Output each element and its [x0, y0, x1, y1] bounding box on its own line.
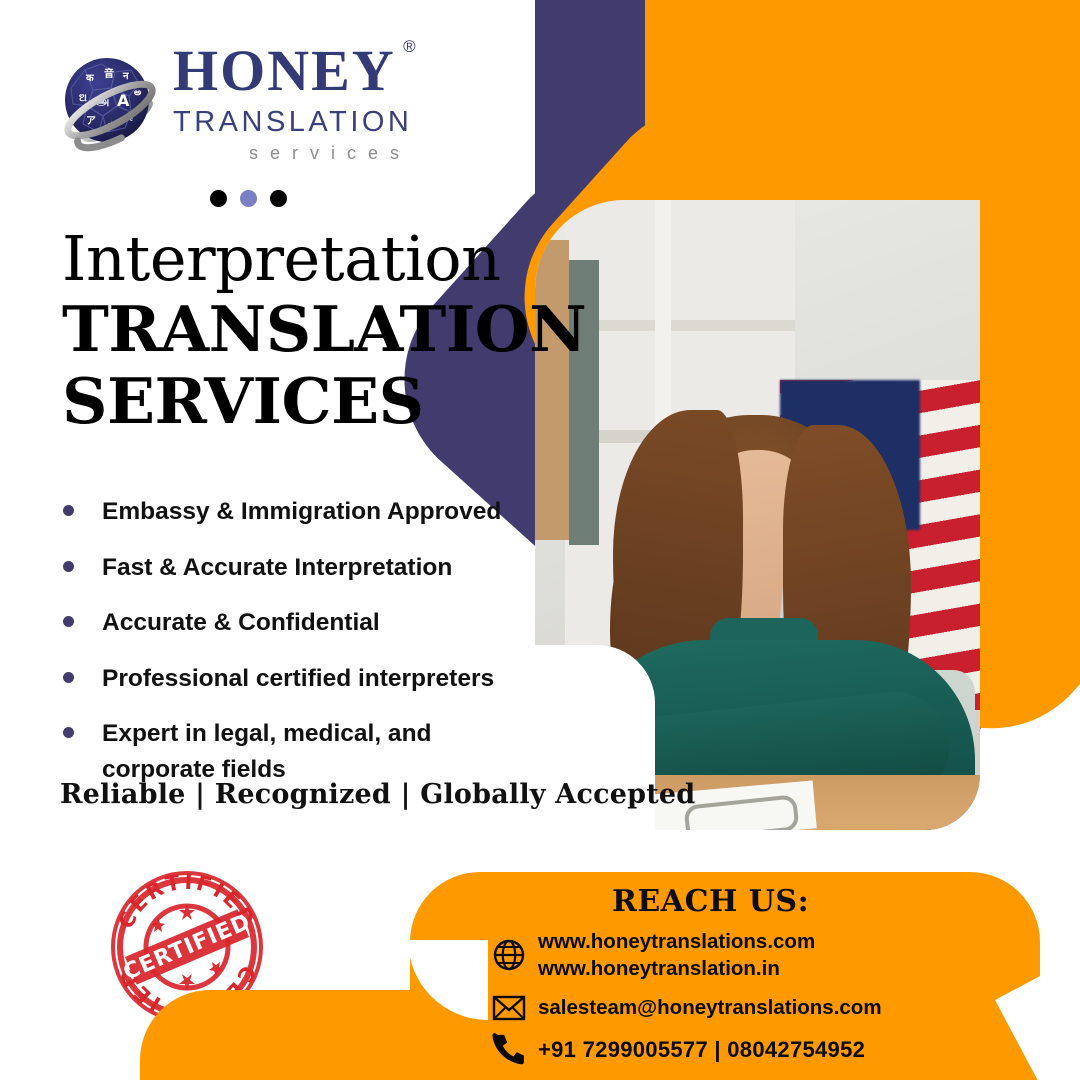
- bullet-point-icon: [63, 672, 74, 683]
- dot-separator: [210, 190, 287, 207]
- feature-label: Accurate & Confidential: [102, 605, 380, 641]
- website-urls: www.honeytranslations.com www.honeytrans…: [538, 928, 815, 983]
- globe-languages-icon: क 音 न ଅ அ A అ ア ಕ ਵ: [55, 48, 165, 158]
- svg-text:ア: ア: [86, 115, 96, 127]
- logo-line-translation: TRANSLATION: [173, 104, 473, 140]
- headline-bold-1: TRANSLATION: [62, 296, 542, 362]
- svg-text:न: न: [122, 71, 129, 82]
- registered-mark: ®: [403, 38, 418, 55]
- headline-script: Interpretation: [62, 228, 542, 290]
- contact-row-email[interactable]: salesteam@honeytranslations.com: [492, 994, 1052, 1022]
- svg-text:音: 音: [104, 67, 114, 80]
- svg-text:क: क: [85, 73, 95, 84]
- list-item: Fast & Accurate Interpretation: [55, 550, 555, 586]
- feature-label: Expert in legal, medical, and corporate …: [102, 716, 452, 787]
- logo-wordmark: HONEY ® TRANSLATION services: [173, 42, 473, 166]
- contact-list: www.honeytranslations.com www.honeytrans…: [492, 928, 1052, 1078]
- feature-label: Professional certified interpreters: [102, 661, 494, 697]
- phone-numbers: +91 7299005577 | 08042754952: [538, 1035, 865, 1064]
- poster-canvas: क 音 न ଅ அ A అ ア ಕ ਵ HONEY ® TRANSLATION …: [0, 0, 1080, 1080]
- reach-us-title: REACH US:: [612, 884, 809, 919]
- feature-list: Embassy & Immigration Approved Fast & Ac…: [55, 494, 555, 807]
- headline-bold-2: SERVICES: [62, 368, 542, 434]
- contact-row-phone[interactable]: +91 7299005577 | 08042754952: [492, 1033, 1052, 1067]
- brand-logo[interactable]: क 音 न ଅ அ A అ ア ಕ ਵ HONEY ® TRANSLATION …: [55, 42, 475, 177]
- logo-name: HONEY: [173, 38, 396, 103]
- headline-block: Interpretation TRANSLATION SERVICES: [62, 228, 542, 434]
- logo-line-services: services: [173, 142, 473, 165]
- bullet-point-icon: [63, 561, 74, 572]
- dot-3: [270, 190, 287, 207]
- dot-2: [240, 190, 257, 207]
- svg-text:ଅ: ଅ: [79, 93, 87, 104]
- globe-icon: [492, 938, 538, 972]
- svg-text:అ: అ: [134, 88, 142, 98]
- list-item: Professional certified interpreters: [55, 661, 555, 697]
- website-line-1: www.honeytranslations.com: [538, 930, 815, 953]
- list-item: Expert in legal, medical, and corporate …: [55, 716, 555, 787]
- svg-text:A: A: [117, 91, 130, 110]
- website-line-2: www.honeytranslation.in: [538, 957, 780, 980]
- contact-row-website[interactable]: www.honeytranslations.com www.honeytrans…: [492, 928, 1052, 983]
- feature-label: Embassy & Immigration Approved: [102, 494, 501, 530]
- phone-icon: [492, 1033, 538, 1067]
- email-address: salesteam@honeytranslations.com: [538, 994, 882, 1021]
- photo-shelf-line-upper: [565, 320, 795, 331]
- bullet-point-icon: [63, 505, 74, 516]
- envelope-icon: [492, 994, 538, 1022]
- dot-1: [210, 190, 227, 207]
- list-item: Accurate & Confidential: [55, 605, 555, 641]
- list-item: Embassy & Immigration Approved: [55, 494, 555, 530]
- tagline: Reliable | Recognized | Globally Accepte…: [60, 779, 695, 810]
- bullet-point-icon: [63, 616, 74, 627]
- feature-label: Fast & Accurate Interpretation: [102, 550, 452, 586]
- bullet-point-icon: [63, 727, 74, 738]
